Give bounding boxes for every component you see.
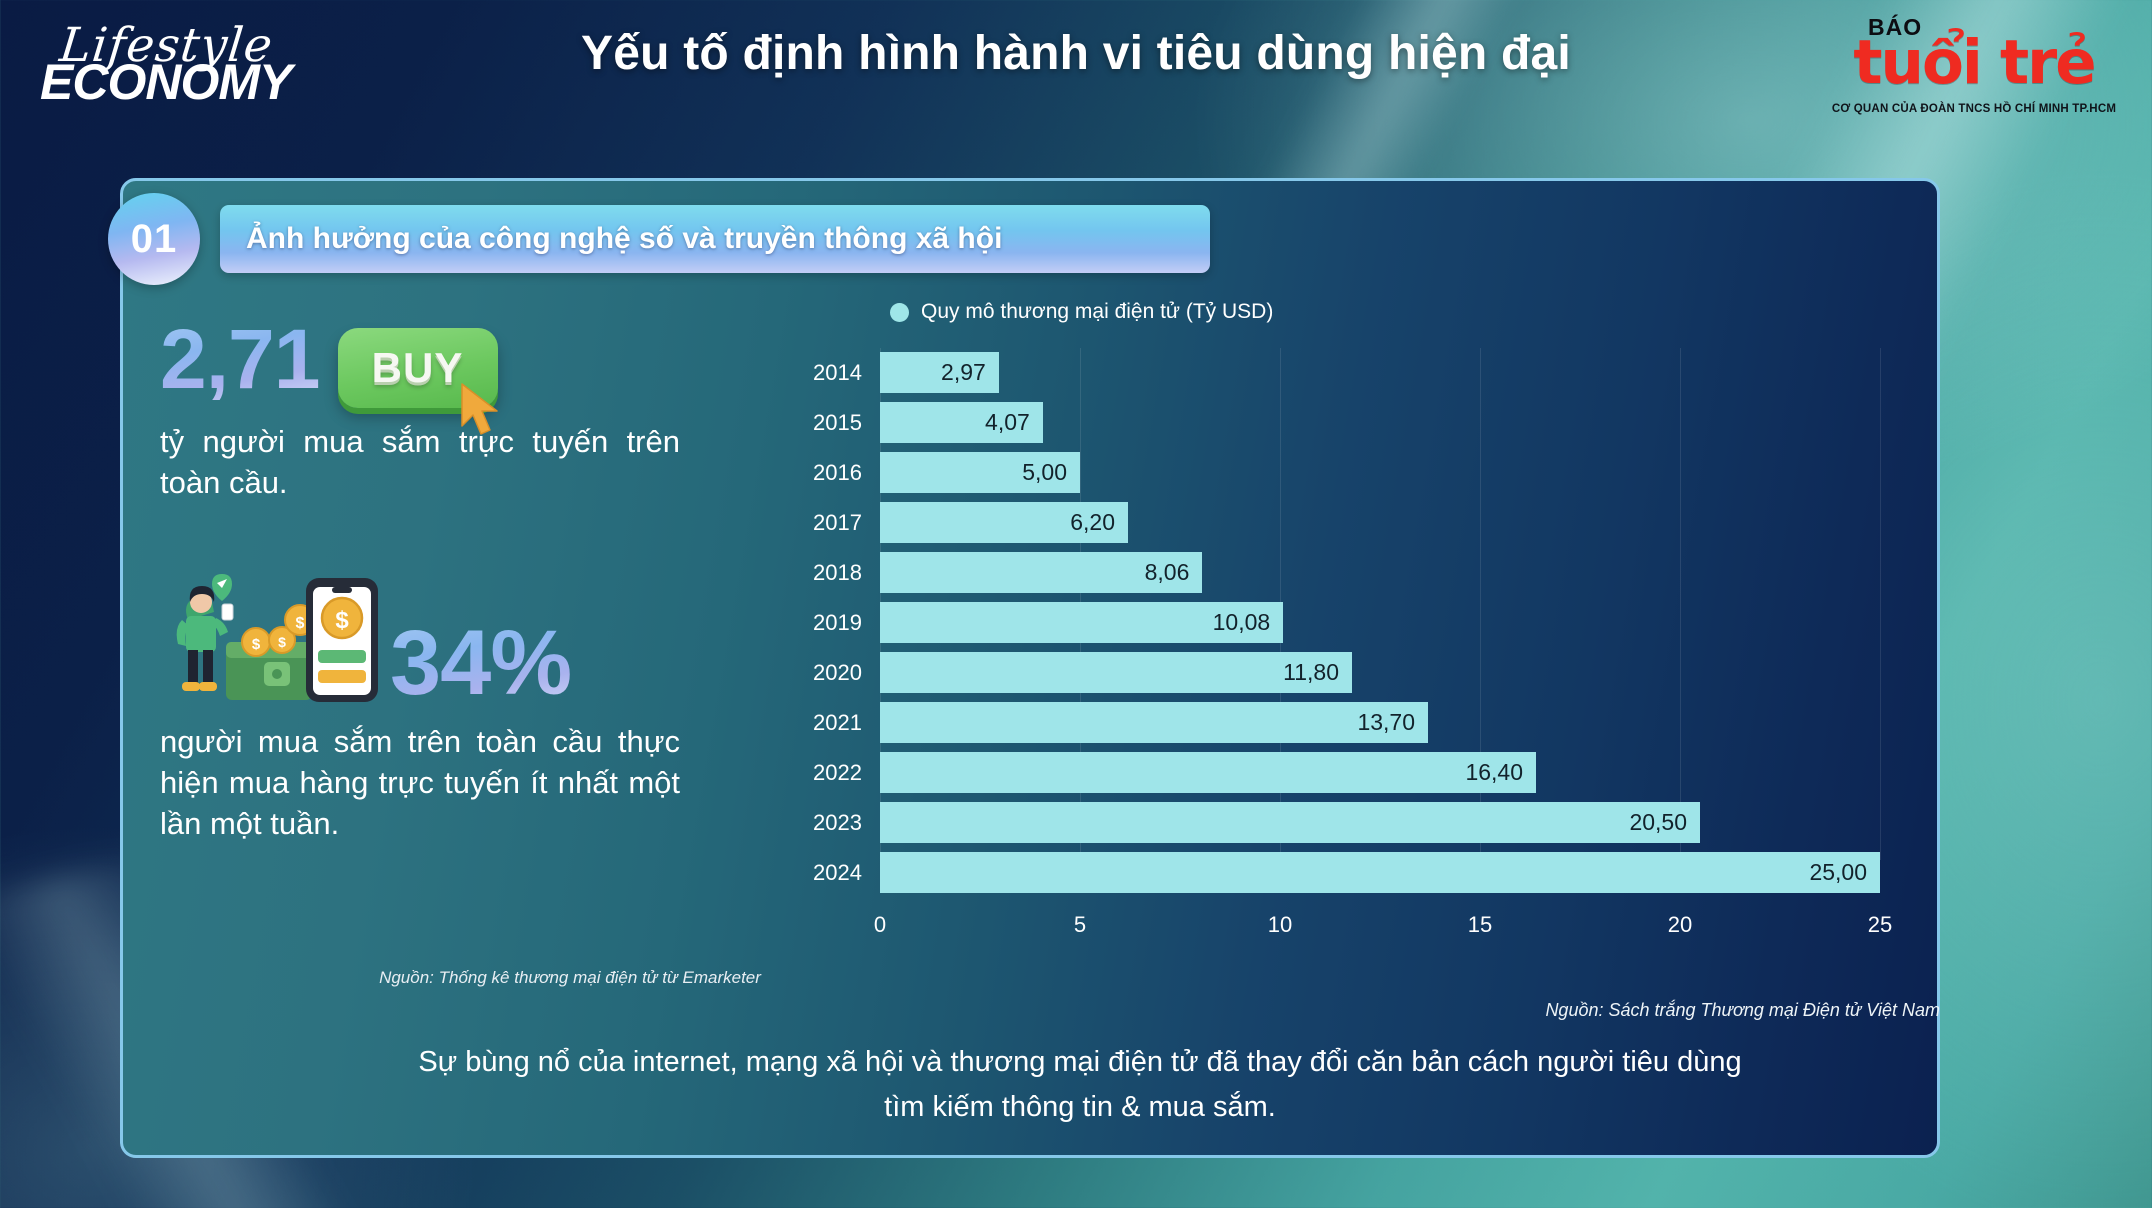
section-header-bar: Ảnh hưởng của công nghệ số và truyền thô… (220, 205, 1210, 273)
buy-chip-label: BUY (372, 344, 464, 392)
footer-caption: Sự bùng nổ của internet, mạng xã hội và … (180, 1040, 1980, 1130)
chart-bar-row: 202113,70 (760, 698, 1880, 748)
chart-x-tick-label: 15 (1468, 912, 1492, 938)
stat-2-value: 34% (390, 620, 571, 707)
chart-category-label: 2016 (760, 460, 880, 486)
stat-1-description: tỷ người mua sắm trực tuyến trên toàn cầ… (160, 422, 680, 504)
chart-legend: Quy mô thương mại điện tử (Tỷ USD) (890, 300, 1880, 324)
stat-1-value: 2,71 (160, 320, 320, 400)
chart-bar-row: 20188,06 (760, 548, 1880, 598)
legend-color-dot (890, 303, 909, 322)
svg-text:$: $ (252, 636, 261, 653)
chart-category-label: 2024 (760, 860, 880, 886)
chart-bar-value-label: 10,08 (1213, 609, 1284, 636)
ecommerce-size-bar-chart: Quy mô thương mại điện tử (Tỷ USD) 20142… (760, 300, 1880, 980)
chart-category-label: 2018 (760, 560, 880, 586)
chart-category-label: 2019 (760, 610, 880, 636)
chart-bar-value-label: 5,00 (1022, 459, 1080, 486)
svg-text:$: $ (296, 615, 305, 632)
chart-bar-row: 20165,00 (760, 448, 1880, 498)
chart-x-tick-label: 20 (1668, 912, 1692, 938)
chart-x-axis: 0510152025 (880, 908, 1880, 948)
cursor-arrow-icon (456, 382, 504, 438)
chart-bar-value-label: 16,40 (1465, 759, 1536, 786)
chart-bar: 6,20 (880, 502, 1128, 543)
chart-bar: 2,97 (880, 352, 999, 393)
chart-bar-value-label: 20,50 (1629, 809, 1700, 836)
tuoi-tre-logo: BÁO tuổi trẻ CƠ QUAN CỦA ĐOÀN TNCS HỒ CH… (1824, 14, 2124, 124)
stat-2-description: người mua sắm trên toàn cầu thực hiện mu… (160, 722, 680, 845)
chart-bar-row: 20154,07 (760, 398, 1880, 448)
section-title: Ảnh hưởng của công nghệ số và truyền thô… (246, 222, 1002, 256)
chart-bar: 13,70 (880, 702, 1428, 743)
chart-bar-row: 20176,20 (760, 498, 1880, 548)
chart-plot-area: 20142,9720154,0720165,0020176,2020188,06… (760, 348, 1880, 908)
section-number-badge: 01 (108, 193, 200, 285)
chart-bar-row: 202425,00 (760, 848, 1880, 898)
chart-bar-track: 6,20 (880, 498, 1880, 548)
chart-bar: 11,80 (880, 652, 1352, 693)
chart-bar-track: 13,70 (880, 698, 1880, 748)
source-chart: Nguồn: Sách trắng Thương mại Điện tử Việ… (1180, 1000, 1940, 1021)
svg-text:$: $ (278, 634, 286, 650)
chart-bar-track: 20,50 (880, 798, 1880, 848)
chart-category-label: 2022 (760, 760, 880, 786)
chart-bar-row: 201910,08 (760, 598, 1880, 648)
chart-bar-value-label: 6,20 (1070, 509, 1128, 536)
chart-bar-track: 25,00 (880, 848, 1880, 898)
chart-x-tick-label: 0 (874, 912, 886, 938)
chart-bar-row: 202320,50 (760, 798, 1880, 848)
chart-bar-value-label: 11,80 (1283, 659, 1352, 686)
chart-bar-value-label: 4,07 (985, 409, 1043, 436)
chart-bar-value-label: 13,70 (1357, 709, 1428, 736)
left-stats-column: 2,71 BUY tỷ người mua sắm trực tuyến trê… (160, 320, 720, 845)
chart-bar-track: 16,40 (880, 748, 1880, 798)
chart-bar-row: 202216,40 (760, 748, 1880, 798)
svg-text:$: $ (335, 607, 349, 634)
chart-bar-track: 8,06 (880, 548, 1880, 598)
chart-bar-row: 202011,80 (760, 648, 1880, 698)
logo-tuoitre-text: tuổi trẻ (1824, 32, 2124, 93)
chart-bar: 8,06 (880, 552, 1202, 593)
source-left: Nguồn: Thống kê thương mại điện tử từ Em… (340, 968, 800, 988)
chart-category-label: 2020 (760, 660, 880, 686)
chart-bar-track: 10,08 (880, 598, 1880, 648)
chart-bar-track: 2,97 (880, 348, 1880, 398)
chart-x-tick-label: 10 (1268, 912, 1292, 938)
chart-bar: 25,00 (880, 852, 1880, 893)
chart-category-label: 2023 (760, 810, 880, 836)
chart-category-label: 2014 (760, 360, 880, 386)
logo-tagline: CƠ QUAN CỦA ĐOÀN TNCS HỒ CHÍ MINH TP.HCM (1824, 104, 2124, 116)
chart-gridline (1880, 348, 1881, 860)
chart-category-label: 2017 (760, 510, 880, 536)
legend-label: Quy mô thương mại điện tử (Tỷ USD) (921, 300, 1273, 324)
chart-bar: 20,50 (880, 802, 1700, 843)
chart-bar-track: 5,00 (880, 448, 1880, 498)
chart-bar: 4,07 (880, 402, 1043, 443)
chart-bar-value-label: 25,00 (1809, 859, 1880, 886)
chart-bar: 10,08 (880, 602, 1283, 643)
chart-x-tick-label: 5 (1074, 912, 1086, 938)
footer-caption-line-2: tìm kiếm thông tin & mua sắm. (180, 1085, 1980, 1130)
footer-caption-line-1: Sự bùng nổ của internet, mạng xã hội và … (180, 1040, 1980, 1085)
chart-x-tick-label: 25 (1868, 912, 1892, 938)
chart-bar: 5,00 (880, 452, 1080, 493)
stat-block-1: 2,71 BUY (160, 320, 720, 408)
chart-bar-track: 4,07 (880, 398, 1880, 448)
stat-block-2: $ $ $ $ 34% (160, 558, 720, 708)
shopper-wallet-phone-illustration: $ $ $ $ (160, 558, 390, 708)
chart-bar-value-label: 8,06 (1145, 559, 1203, 586)
chart-bar: 16,40 (880, 752, 1536, 793)
chart-bar-value-label: 2,97 (941, 359, 999, 386)
buy-button-illustration: BUY (338, 328, 498, 408)
chart-category-label: 2015 (760, 410, 880, 436)
chart-category-label: 2021 (760, 710, 880, 736)
chart-bar-row: 20142,97 (760, 348, 1880, 398)
chart-bar-track: 11,80 (880, 648, 1880, 698)
